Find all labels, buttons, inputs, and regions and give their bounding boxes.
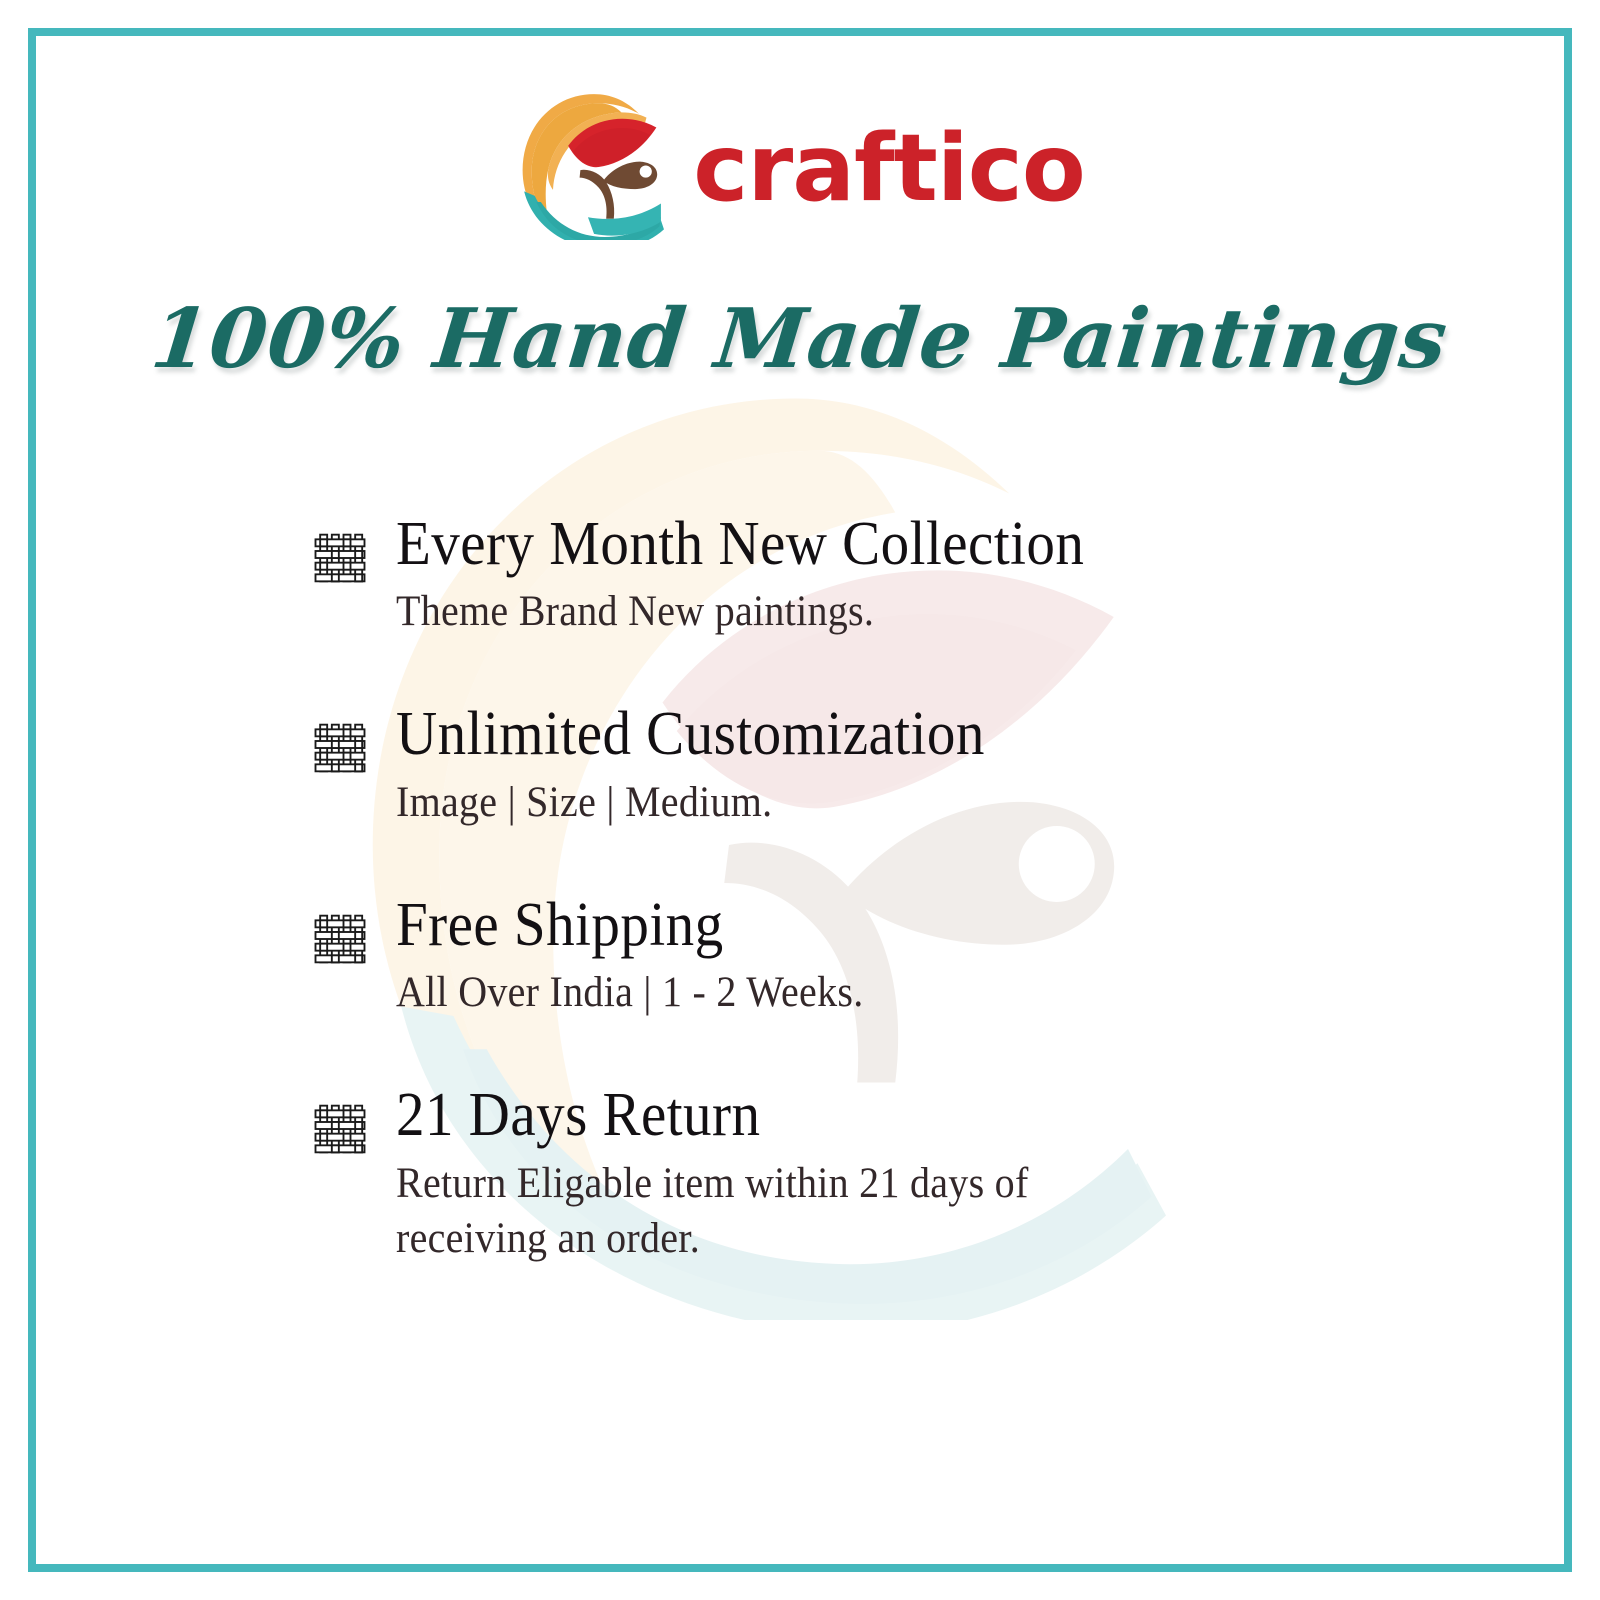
list-item: 21 Days Return Return Eligable item with… bbox=[312, 1083, 1322, 1267]
feature-title: Unlimited Customization bbox=[396, 702, 1248, 766]
headline-text: 100% Hand Made Paintings bbox=[148, 296, 1452, 382]
brand-header: craftico bbox=[0, 88, 1600, 240]
list-item: Every Month New Collection Theme Brand N… bbox=[312, 512, 1322, 640]
feature-title: 21 Days Return bbox=[396, 1083, 1248, 1147]
woven-texture-icon bbox=[312, 720, 368, 776]
woven-texture-icon bbox=[312, 911, 368, 967]
feature-subtitle: Theme Brand New paintings. bbox=[396, 584, 1257, 640]
woven-texture-icon bbox=[312, 530, 368, 586]
feature-subtitle: Return Eligable item within 21 days of r… bbox=[396, 1156, 1140, 1268]
brand-wordmark: craftico bbox=[693, 122, 1085, 215]
craftico-logo-icon bbox=[515, 88, 667, 240]
promo-poster: craftico 100% Hand Made Paintings bbox=[0, 0, 1600, 1600]
woven-texture-icon bbox=[312, 1101, 368, 1157]
list-item: Free Shipping All Over India | 1 - 2 Wee… bbox=[312, 893, 1322, 1021]
feature-subtitle: Image | Size | Medium. bbox=[396, 775, 1257, 831]
feature-list: Every Month New Collection Theme Brand N… bbox=[312, 512, 1322, 1267]
feature-title: Every Month New Collection bbox=[396, 512, 1248, 576]
list-item: Unlimited Customization Image | Size | M… bbox=[312, 702, 1322, 830]
feature-title: Free Shipping bbox=[396, 893, 1248, 957]
feature-subtitle: All Over India | 1 - 2 Weeks. bbox=[396, 965, 1257, 1021]
page-title: 100% Hand Made Paintings bbox=[0, 296, 1600, 382]
